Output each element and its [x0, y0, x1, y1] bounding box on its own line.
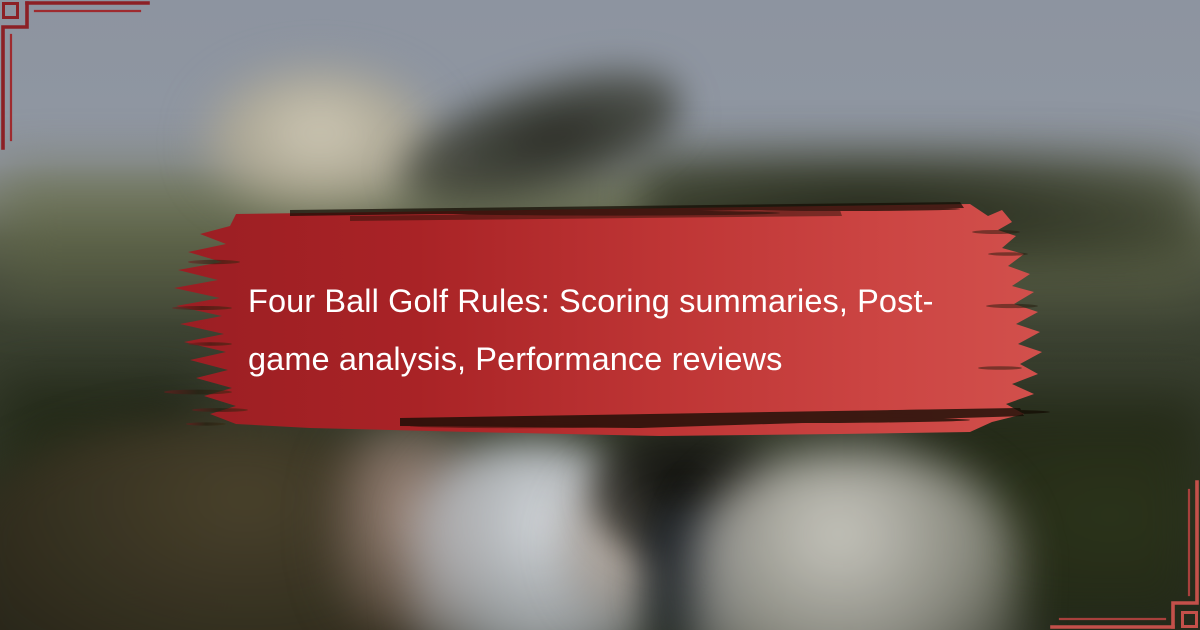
background-golfer-hat: [205, 70, 435, 210]
share-card-canvas: Four Ball Golf Rules: Scoring summaries,…: [0, 0, 1200, 630]
headline-text: Four Ball Golf Rules: Scoring summaries,…: [248, 272, 964, 388]
